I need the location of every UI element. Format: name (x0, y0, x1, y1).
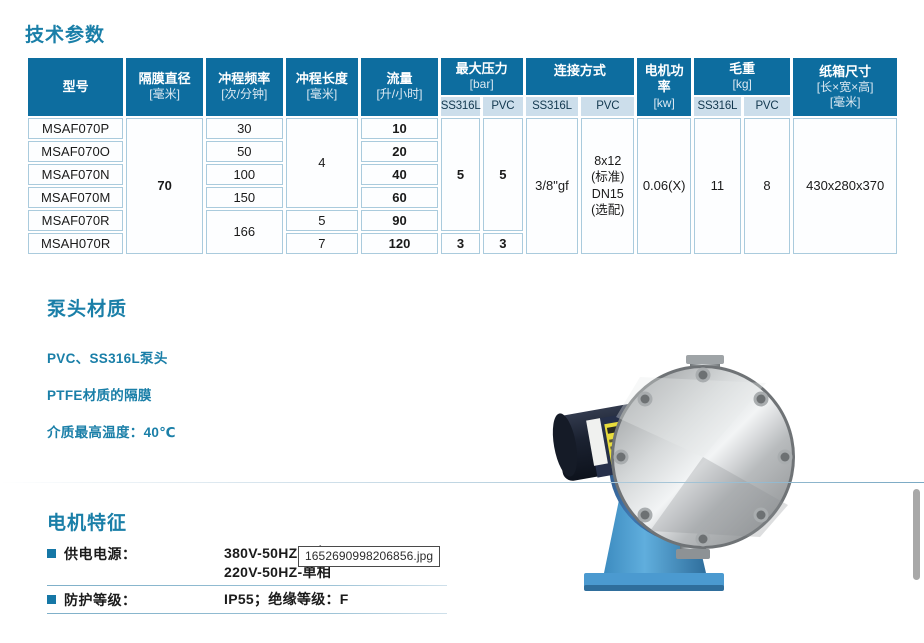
cell-flow: 90 (361, 210, 438, 231)
motor-feature-label: 防护等级： (64, 590, 224, 610)
cell-model: MSAF070O (28, 141, 123, 162)
cell-carton-size: 430x280x370 (793, 118, 897, 254)
cell-connection-pvc: 8x12 (标准) DN15 (选配) (581, 118, 634, 254)
section-title-pump-head-material: 泵头材质 (47, 294, 127, 321)
vertical-scrollbar-thumb[interactable] (913, 489, 920, 580)
col-subheader-gross-weight-pvc: PVC (744, 97, 791, 115)
square-bullet-icon (47, 549, 56, 558)
cell-gross-weight-ss316l: 11 (694, 118, 741, 254)
cell-flow: 10 (361, 118, 438, 139)
pump-head-material-line: PTFE材质的隔膜 (47, 384, 176, 404)
motor-feature-label: 供电电源： (64, 544, 224, 564)
page-title-technical-parameters: 技术参数 (25, 20, 105, 47)
col-header-max-pressure: 最大压力 [bar] (441, 58, 523, 95)
col-header-motor-power: 电机功率 [kw] (637, 58, 691, 116)
motor-feature-row-protection-class: 防护等级： IP55；绝缘等级：F (47, 586, 447, 613)
pump-head-flange (611, 365, 795, 549)
cell-motor-power: 0.06(X) (637, 118, 691, 254)
table-row: MSAF070P 70 30 4 10 5 5 3/8"gf 8x12 (标准)… (28, 118, 897, 139)
cell-stroke-frequency: 150 (206, 187, 283, 208)
col-subheader-max-pressure-pvc: PVC (483, 97, 522, 115)
cell-flow: 120 (361, 233, 438, 254)
cell-connection-ss316l: 3/8"gf (526, 118, 579, 254)
col-header-carton-size: 纸箱尺寸 [长×宽×高] [毫米] (793, 58, 897, 116)
cell-max-pressure-pvc: 5 (483, 118, 522, 231)
cell-stroke-frequency: 166 (206, 210, 283, 254)
pump-head-material-line: 介质最高温度：40℃ (47, 421, 176, 441)
cell-stroke-frequency: 30 (206, 118, 283, 139)
cell-stroke-length: 7 (286, 233, 359, 254)
cell-diaphragm-diameter: 70 (126, 118, 203, 254)
cell-max-pressure-ss316l-low: 3 (441, 233, 480, 254)
col-header-model: 型号 (28, 58, 123, 116)
vertical-scrollbar-track[interactable] (908, 0, 924, 643)
divider-line-motor-2 (47, 613, 447, 614)
square-bullet-icon (47, 595, 56, 604)
cell-stroke-length: 5 (286, 210, 359, 231)
pump-head-material-line: PVC、SS316L泵头 (47, 347, 176, 367)
pump-head-material-list: PVC、SS316L泵头 PTFE材质的隔膜 介质最高温度：40℃ (47, 330, 176, 441)
product-spec-page: 技术参数 型号 隔膜直径 [毫米] (0, 0, 924, 643)
col-header-flow: 流量 [升/小时] (361, 58, 438, 116)
cell-flow: 60 (361, 187, 438, 208)
cell-stroke-frequency: 100 (206, 164, 283, 185)
col-subheader-gross-weight-ss316l: SS316L (694, 97, 741, 115)
cell-stroke-frequency: 50 (206, 141, 283, 162)
divider-line-upper (0, 482, 924, 483)
cell-model: MSAF070N (28, 164, 123, 185)
section-title-motor-features: 电机特征 (47, 508, 127, 535)
motor-feature-value: IP55；绝缘等级：F (224, 590, 349, 609)
col-header-stroke-frequency: 冲程频率 [次/分钟] (206, 58, 283, 116)
col-header-gross-weight: 毛重 [kg] (694, 58, 790, 95)
col-header-diaphragm-diameter: 隔膜直径 [毫米] (126, 58, 203, 116)
image-filename-tooltip: 1652690998206856.jpg (298, 546, 440, 567)
technical-parameters-table: 型号 隔膜直径 [毫米] 冲程频率 [次/分钟] 冲程长度 [毫米] 流量 [升… (25, 56, 900, 256)
cell-gross-weight-pvc: 8 (744, 118, 791, 254)
cell-model: MSAH070R (28, 233, 123, 254)
col-header-stroke-length: 冲程长度 [毫米] (286, 58, 359, 116)
cell-flow: 20 (361, 141, 438, 162)
col-subheader-max-pressure-ss316l: SS316L (441, 97, 480, 115)
col-subheader-connection-pvc: PVC (581, 97, 634, 115)
cell-model: MSAF070R (28, 210, 123, 231)
col-header-connection: 连接方式 (526, 58, 635, 95)
col-subheader-connection-ss316l: SS316L (526, 97, 579, 115)
cell-max-pressure-ss316l: 5 (441, 118, 480, 231)
table-header-row-primary: 型号 隔膜直径 [毫米] 冲程频率 [次/分钟] 冲程长度 [毫米] 流量 [升… (28, 58, 897, 95)
cell-max-pressure-pvc-low: 3 (483, 233, 522, 254)
cell-model: MSAF070P (28, 118, 123, 139)
cell-stroke-length: 4 (286, 118, 359, 208)
cell-flow: 40 (361, 164, 438, 185)
cell-model: MSAF070M (28, 187, 123, 208)
